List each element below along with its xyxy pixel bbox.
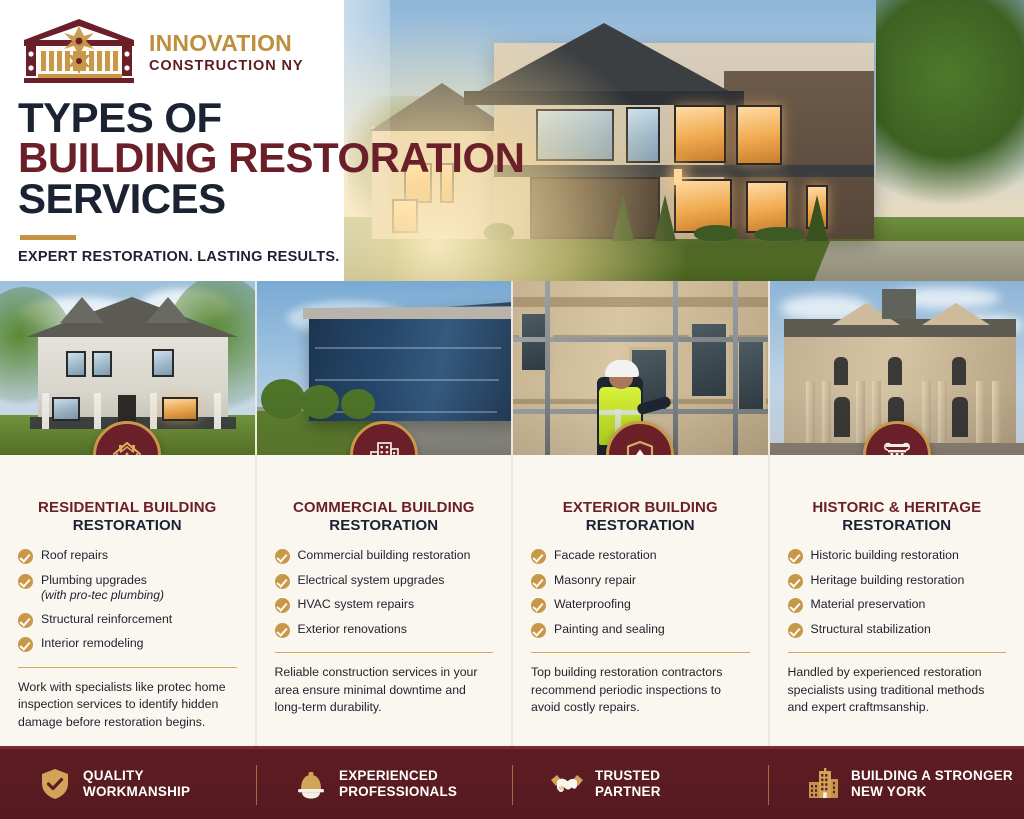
footer-label-quality: QUALITY WORKMANSHIP bbox=[83, 768, 190, 801]
classical-temple-logo-icon bbox=[18, 16, 140, 84]
brand-logo[interactable]: INNOVATION CONSTRUCTION NY bbox=[18, 16, 578, 84]
check-icon bbox=[788, 574, 803, 589]
card-note-residential: Work with specialists like protec home i… bbox=[18, 679, 237, 745]
service-card-exterior[interactable]: EXTERIOR BUILDING RESTORATION Facade res… bbox=[513, 281, 768, 746]
list-item: Plumbing upgrades (with pro-tec plumbing… bbox=[18, 573, 237, 603]
gold-divider bbox=[20, 235, 76, 240]
hard-hat-icon bbox=[294, 767, 328, 801]
feature-label: Painting and sealing bbox=[554, 622, 665, 637]
card-title-exterior: EXTERIOR BUILDING RESTORATION bbox=[531, 499, 750, 534]
list-item: Material preservation bbox=[788, 597, 1007, 613]
list-item: Masonry repair bbox=[531, 573, 750, 589]
feature-label: Exterior renovations bbox=[298, 622, 407, 637]
card-title-top: COMMERCIAL BUILDING bbox=[275, 499, 494, 517]
brand-name: INNOVATION bbox=[149, 32, 303, 55]
card-title-residential: RESIDENTIAL BUILDING RESTORATION bbox=[18, 499, 237, 534]
card-photo-residential-house bbox=[0, 281, 255, 455]
tagline: EXPERT RESTORATION. LASTING RESULTS. bbox=[18, 249, 578, 265]
list-item: Commercial building restoration bbox=[275, 548, 494, 564]
service-card-commercial[interactable]: COMMERCIAL BUILDING RESTORATION Commerci… bbox=[257, 281, 512, 746]
feature-label: Heritage building restoration bbox=[811, 573, 965, 588]
service-card-historic[interactable]: HISTORIC & HERITAGE RESTORATION Historic… bbox=[770, 281, 1024, 746]
home-icon bbox=[110, 438, 144, 455]
card-divider bbox=[18, 667, 237, 668]
feature-label: Roof repairs bbox=[41, 548, 108, 563]
check-icon bbox=[531, 574, 546, 589]
feature-label: Interior remodeling bbox=[41, 636, 144, 651]
card-title-top: HISTORIC & HERITAGE bbox=[788, 499, 1007, 517]
card-title-commercial: COMMERCIAL BUILDING RESTORATION bbox=[275, 499, 494, 534]
card-photo-facade-worker bbox=[513, 281, 768, 455]
check-icon bbox=[18, 549, 33, 564]
footer-label-line2: WORKMANSHIP bbox=[83, 784, 190, 799]
list-item: Interior remodeling bbox=[18, 636, 237, 652]
hero-section: INNOVATION CONSTRUCTION NY TYPES OF BUIL… bbox=[0, 0, 1024, 281]
feature-list-residential: Roof repairs Plumbing upgrades (with pro… bbox=[18, 548, 237, 660]
title-line-1: TYPES OF bbox=[18, 98, 578, 138]
card-title-bottom: RESTORATION bbox=[788, 517, 1007, 535]
feature-label: Historic building restoration bbox=[811, 548, 959, 563]
card-title-top: RESIDENTIAL BUILDING bbox=[18, 499, 237, 517]
title-line-3: SERVICES bbox=[18, 179, 578, 219]
brand-subtitle: CONSTRUCTION NY bbox=[149, 59, 303, 74]
feature-label: Structural stabilization bbox=[811, 622, 931, 637]
card-title-historic: HISTORIC & HERITAGE RESTORATION bbox=[788, 499, 1007, 534]
footer-label-line2: NEW YORK bbox=[851, 784, 927, 799]
check-icon bbox=[788, 549, 803, 564]
card-title-bottom: RESTORATION bbox=[18, 517, 237, 535]
footer-label-line2: PARTNER bbox=[595, 784, 661, 799]
feature-label: Commercial building restoration bbox=[298, 548, 471, 563]
footer-item-new-york: BUILDING A STRONGER NEW YORK bbox=[768, 749, 1024, 819]
feature-label: Facade restoration bbox=[554, 548, 657, 563]
card-note-exterior: Top building restoration contractors rec… bbox=[531, 664, 750, 730]
check-icon bbox=[275, 574, 290, 589]
check-icon bbox=[275, 623, 290, 638]
feature-label: Plumbing upgrades (with pro-tec plumbing… bbox=[41, 573, 164, 603]
handshake-icon bbox=[550, 767, 584, 801]
footer-label-line2: PROFESSIONALS bbox=[339, 784, 457, 799]
card-divider bbox=[788, 652, 1007, 653]
page-title: TYPES OF BUILDING RESTORATION SERVICES bbox=[18, 98, 578, 219]
feature-label: Structural reinforcement bbox=[41, 612, 172, 627]
office-buildings-icon bbox=[367, 438, 401, 455]
classical-column-icon bbox=[880, 438, 914, 455]
list-item: Historic building restoration bbox=[788, 548, 1007, 564]
list-item: Painting and sealing bbox=[531, 622, 750, 638]
shield-droplet-icon bbox=[623, 438, 657, 455]
footer-label-line1: EXPERIENCED bbox=[339, 768, 438, 783]
feature-label: Masonry repair bbox=[554, 573, 636, 588]
check-icon bbox=[531, 598, 546, 613]
card-divider bbox=[275, 652, 494, 653]
list-item: Waterproofing bbox=[531, 597, 750, 613]
check-icon bbox=[531, 623, 546, 638]
feature-list-exterior: Facade restoration Masonry repair Waterp… bbox=[531, 548, 750, 646]
feature-list-historic: Historic building restoration Heritage b… bbox=[788, 548, 1007, 646]
footer-label-line1: TRUSTED bbox=[595, 768, 660, 783]
check-icon bbox=[788, 598, 803, 613]
card-title-bottom: RESTORATION bbox=[275, 517, 494, 535]
service-card-residential[interactable]: RESIDENTIAL BUILDING RESTORATION Roof re… bbox=[0, 281, 255, 746]
footer-item-quality: QUALITY WORKMANSHIP bbox=[0, 749, 256, 819]
list-item: Facade restoration bbox=[531, 548, 750, 564]
feature-label: HVAC system repairs bbox=[298, 597, 415, 612]
check-icon bbox=[18, 613, 33, 628]
footer-item-trusted: TRUSTED PARTNER bbox=[512, 749, 768, 819]
check-icon bbox=[531, 549, 546, 564]
check-icon bbox=[788, 623, 803, 638]
card-title-bottom: RESTORATION bbox=[531, 517, 750, 535]
feature-list-commercial: Commercial building restoration Electric… bbox=[275, 548, 494, 646]
footer-label-line1: QUALITY bbox=[83, 768, 144, 783]
footer-label-experienced: EXPERIENCED PROFESSIONALS bbox=[339, 768, 457, 801]
card-title-top: EXTERIOR BUILDING bbox=[531, 499, 750, 517]
list-item: Exterior renovations bbox=[275, 622, 494, 638]
list-item: Electrical system upgrades bbox=[275, 573, 494, 589]
footer-item-experienced: EXPERIENCED PROFESSIONALS bbox=[256, 749, 512, 819]
list-item: Structural stabilization bbox=[788, 622, 1007, 638]
list-item: HVAC system repairs bbox=[275, 597, 494, 613]
check-icon bbox=[18, 574, 33, 589]
list-item: Heritage building restoration bbox=[788, 573, 1007, 589]
title-line-2: BUILDING RESTORATION bbox=[18, 138, 578, 178]
feature-label: Material preservation bbox=[811, 597, 926, 612]
feature-label: Electrical system upgrades bbox=[298, 573, 445, 588]
feature-label-text: Plumbing upgrades bbox=[41, 573, 147, 587]
card-note-commercial: Reliable construction services in your a… bbox=[275, 664, 494, 730]
trust-footer-bar: QUALITY WORKMANSHIP EXPERIENCED PROFESSI… bbox=[0, 746, 1024, 819]
card-divider bbox=[531, 652, 750, 653]
card-note-historic: Handled by experienced restoration speci… bbox=[788, 664, 1007, 730]
check-icon bbox=[18, 637, 33, 652]
check-icon bbox=[275, 549, 290, 564]
list-item: Structural reinforcement bbox=[18, 612, 237, 628]
infographic-page: INNOVATION CONSTRUCTION NY TYPES OF BUIL… bbox=[0, 0, 1024, 819]
feature-label-note: (with pro-tec plumbing) bbox=[41, 588, 164, 603]
footer-label-new-york: BUILDING A STRONGER NEW YORK bbox=[851, 768, 1013, 801]
feature-label: Waterproofing bbox=[554, 597, 631, 612]
shield-check-icon bbox=[38, 767, 72, 801]
card-photo-historic-building bbox=[770, 281, 1024, 455]
city-buildings-icon bbox=[806, 767, 840, 801]
check-icon bbox=[275, 598, 290, 613]
footer-label-line1: BUILDING A STRONGER bbox=[851, 768, 1013, 783]
footer-label-trusted: TRUSTED PARTNER bbox=[595, 768, 661, 801]
list-item: Roof repairs bbox=[18, 548, 237, 564]
card-photo-office-building bbox=[257, 281, 512, 455]
service-cards-grid: RESIDENTIAL BUILDING RESTORATION Roof re… bbox=[0, 281, 1024, 746]
